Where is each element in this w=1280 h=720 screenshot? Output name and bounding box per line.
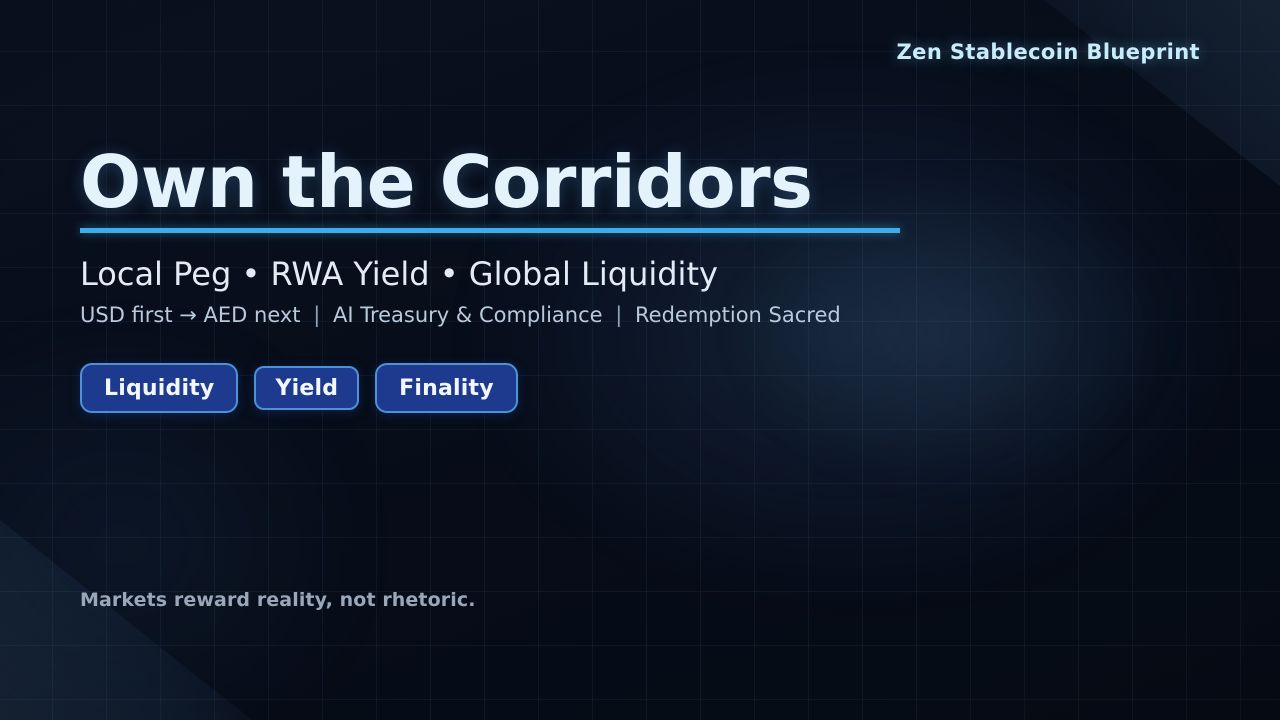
tagline-separator-1: |: [307, 303, 326, 327]
slide-tagline: USD first → AED next | AI Treasury & Com…: [80, 303, 841, 328]
tagline-separator-2: |: [609, 303, 628, 327]
pill-badge-liquidity[interactable]: Liquidity: [80, 363, 238, 413]
page-title: Own the Corridors: [80, 146, 813, 218]
tagline-part-1: USD first → AED next: [80, 303, 301, 327]
pill-badge-finality[interactable]: Finality: [375, 363, 518, 413]
tagline-part-2: AI Treasury & Compliance: [333, 303, 603, 327]
presentation-slide: Zen Stablecoin Blueprint Own the Corrido…: [0, 0, 1280, 720]
slide-footnote: Markets reward reality, not rhetoric.: [80, 589, 476, 611]
slide-kicker: Zen Stablecoin Blueprint: [897, 40, 1200, 64]
slide-subtitle: Local Peg • RWA Yield • Global Liquidity: [80, 256, 718, 294]
title-underline-rule: [80, 228, 900, 233]
slide-content: Zen Stablecoin Blueprint Own the Corrido…: [0, 0, 1280, 720]
pill-badge-yield[interactable]: Yield: [254, 366, 359, 410]
pill-badge-row: Liquidity Yield Finality: [80, 363, 518, 413]
tagline-part-3: Redemption Sacred: [635, 303, 841, 327]
